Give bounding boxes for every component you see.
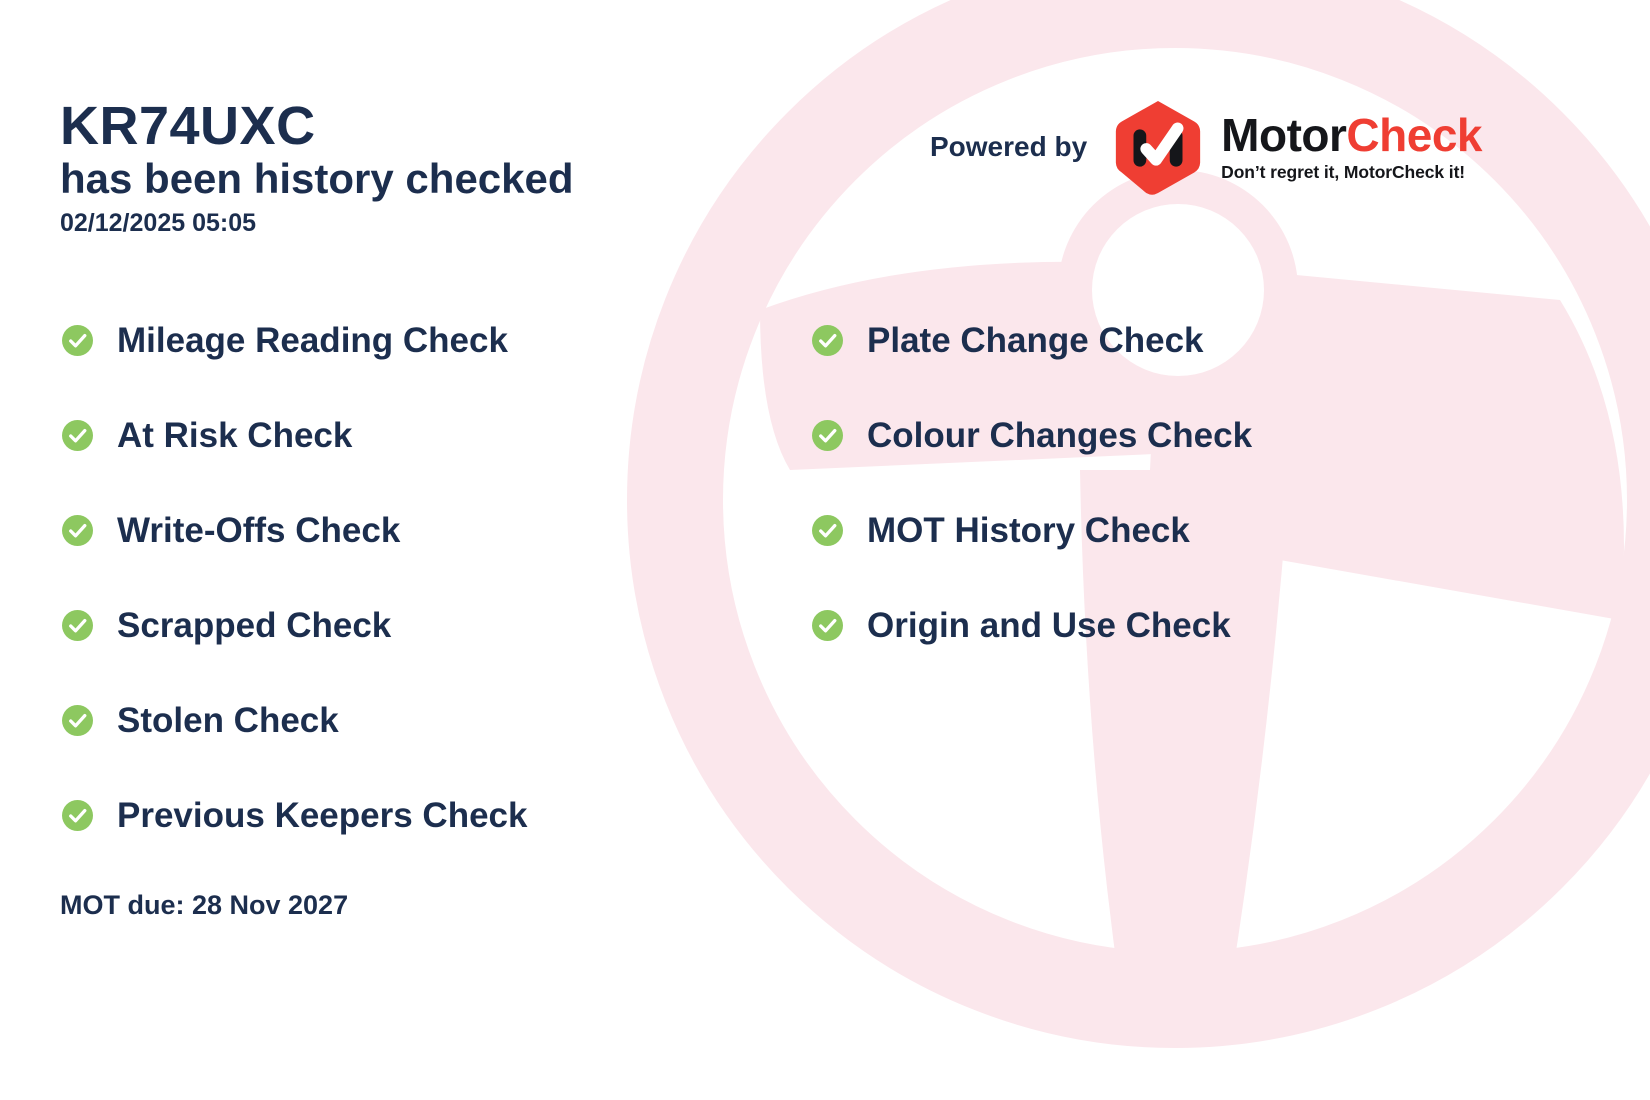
vehicle-registration: KR74UXC <box>60 98 574 155</box>
check-label: Stolen Check <box>117 703 339 738</box>
motorcheck-hexagon-icon <box>1109 98 1207 196</box>
check-label: Previous Keepers Check <box>117 798 527 833</box>
check-label: Colour Changes Check <box>867 418 1252 453</box>
check-item: Origin and Use Check <box>812 603 1252 648</box>
check-item: Previous Keepers Check <box>62 793 527 838</box>
check-item: Plate Change Check <box>812 318 1252 363</box>
logo-word-check: Check <box>1346 109 1482 161</box>
report-card: KR74UXC has been history checked 02/12/2… <box>0 0 1650 1100</box>
check-item: Write-Offs Check <box>62 508 527 553</box>
check-label: Plate Change Check <box>867 323 1204 358</box>
check-label: Mileage Reading Check <box>117 323 508 358</box>
check-item: Colour Changes Check <box>812 413 1252 458</box>
check-label: Origin and Use Check <box>867 608 1231 643</box>
motorcheck-logo[interactable]: MotorCheck Don’t regret it, MotorCheck i… <box>1109 98 1482 196</box>
mot-due-label: MOT due: 28 Nov 2027 <box>60 890 348 921</box>
check-circle-icon <box>62 325 93 356</box>
logo-wordmark: MotorCheck <box>1221 112 1482 158</box>
check-circle-icon <box>62 515 93 546</box>
logo-tagline: Don’t regret it, MotorCheck it! <box>1221 162 1482 183</box>
checks-column-right: Plate Change Check Colour Changes Check … <box>812 318 1252 648</box>
logo-word-motor: Motor <box>1221 109 1346 161</box>
check-item: Mileage Reading Check <box>62 318 527 363</box>
checks-column-left: Mileage Reading Check At Risk Check Writ… <box>62 318 527 838</box>
check-item: At Risk Check <box>62 413 527 458</box>
check-circle-icon <box>62 610 93 641</box>
check-label: At Risk Check <box>117 418 352 453</box>
check-circle-icon <box>62 800 93 831</box>
check-circle-icon <box>812 610 843 641</box>
check-circle-icon <box>812 515 843 546</box>
check-timestamp: 02/12/2025 05:05 <box>60 209 574 238</box>
check-circle-icon <box>812 325 843 356</box>
check-item: MOT History Check <box>812 508 1252 553</box>
check-circle-icon <box>62 705 93 736</box>
check-label: MOT History Check <box>867 513 1190 548</box>
logo-text-block: MotorCheck Don’t regret it, MotorCheck i… <box>1221 112 1482 183</box>
check-item: Scrapped Check <box>62 603 527 648</box>
powered-by-label: Powered by <box>930 131 1087 163</box>
check-circle-icon <box>62 420 93 451</box>
header-block: KR74UXC has been history checked 02/12/2… <box>60 98 574 238</box>
check-label: Scrapped Check <box>117 608 391 643</box>
header-subtitle: has been history checked <box>60 155 574 204</box>
powered-by-row: Powered by MotorCheck Don’t regret it, M… <box>930 98 1482 196</box>
check-item: Stolen Check <box>62 698 527 743</box>
check-circle-icon <box>812 420 843 451</box>
check-label: Write-Offs Check <box>117 513 400 548</box>
